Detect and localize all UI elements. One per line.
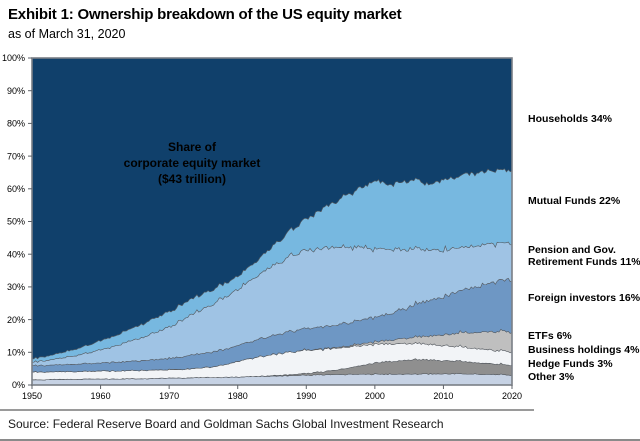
- y-tick-label: 0%: [12, 380, 25, 390]
- series-label-hedge-funds: Hedge Funds 3%: [528, 358, 613, 370]
- x-tick-label: 1960: [91, 391, 111, 401]
- exhibit-chart-panel: Exhibit 1: Ownership breakdown of the US…: [0, 0, 640, 441]
- y-tick-label: 70%: [7, 151, 25, 161]
- footer-divider: [0, 409, 534, 411]
- page-title: Exhibit 1: Ownership breakdown of the US…: [8, 6, 401, 23]
- series-label-other: Other 3%: [528, 371, 575, 383]
- x-tick-label: 2000: [365, 391, 385, 401]
- x-tick-label: 1990: [296, 391, 316, 401]
- series-label-etfs: ETFs 6%: [528, 330, 572, 342]
- area-series-group: [32, 58, 512, 385]
- series-label-foreign-investors: Foreign investors 16%: [528, 292, 640, 304]
- chart-canvas: 0%10%20%30%40%50%60%70%80%90%100% 195019…: [0, 50, 640, 405]
- y-tick-label: 30%: [7, 282, 25, 292]
- source-note: Source: Federal Reserve Board and Goldma…: [8, 417, 444, 431]
- y-tick-label: 10%: [7, 348, 25, 358]
- y-tick-label: 80%: [7, 119, 25, 129]
- x-tick-label: 1950: [22, 391, 42, 401]
- x-axis: 19501960197019801990200020102020: [22, 385, 522, 401]
- annotation-line-3: ($43 trillion): [158, 172, 226, 186]
- series-label-business-holdings: Business holdings 4%: [528, 344, 640, 356]
- series-label-mutual-funds: Mutual Funds 22%: [528, 195, 621, 207]
- y-tick-label: 50%: [7, 217, 25, 227]
- y-tick-label: 100%: [2, 53, 25, 63]
- page-subtitle: as of March 31, 2020: [8, 27, 125, 41]
- y-tick-label: 60%: [7, 184, 25, 194]
- series-direct-labels: Households 34% Mutual Funds 22% Pension …: [528, 113, 640, 383]
- y-axis: 0%10%20%30%40%50%60%70%80%90%100%: [2, 53, 32, 390]
- x-tick-label: 2020: [502, 391, 522, 401]
- y-tick-label: 20%: [7, 315, 25, 325]
- y-tick-label: 90%: [7, 86, 25, 96]
- series-label-pension-line-2: Retirement Funds 11%: [528, 256, 640, 268]
- annotation-line-1: Share of: [168, 140, 217, 154]
- x-tick-label: 1980: [228, 391, 248, 401]
- y-tick-label: 40%: [7, 249, 25, 259]
- annotation-line-2: corporate equity market: [124, 156, 261, 170]
- x-tick-label: 2010: [433, 391, 453, 401]
- stacked-area-chart: 0%10%20%30%40%50%60%70%80%90%100% 195019…: [0, 50, 640, 405]
- series-label-pension-line-1: Pension and Gov.: [528, 244, 616, 256]
- x-tick-label: 1970: [159, 391, 179, 401]
- series-label-households: Households 34%: [528, 113, 613, 125]
